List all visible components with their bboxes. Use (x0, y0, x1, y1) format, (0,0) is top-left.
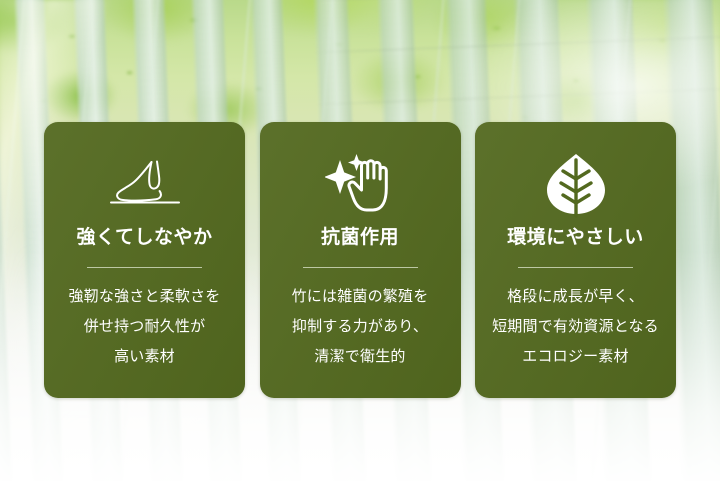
feature-card-antibacterial[interactable]: 抗菌作用 竹には雑菌の繁殖を 抑制する力があり、 清潔で衛生的 (260, 122, 461, 398)
leaf-icon (545, 148, 607, 222)
feature-card-eco[interactable]: 環境にやさしい 格段に成長が早く、 短期間で有効資源となる エコロジー素材 (475, 122, 676, 398)
feature-card-strength[interactable]: 強くてしなやか 強靭な強さと柔軟さを 併せ持つ耐久性が 高い素材 (44, 122, 245, 398)
feature-card-title: 強くてしなやか (77, 228, 213, 247)
feature-card-divider (518, 267, 633, 268)
feature-card-list: 強くてしなやか 強靭な強さと柔軟さを 併せ持つ耐久性が 高い素材 抗菌作用 竹に… (44, 122, 676, 398)
feature-card-title: 抗菌作用 (321, 228, 399, 247)
feature-card-divider (303, 267, 418, 268)
feature-card-body: 竹には雑菌の繁殖を 抑制する力があり、 清潔で衛生的 (292, 282, 429, 372)
foot-icon (109, 148, 181, 222)
feature-card-divider (87, 267, 202, 268)
feature-card-body: 格段に成長が早く、 短期間で有効資源となる エコロジー素材 (492, 282, 659, 372)
feature-card-title: 環境にやさしい (507, 228, 644, 247)
hand-sparkle-icon (325, 148, 395, 222)
bamboo-feature-banner: 強くてしなやか 強靭な強さと柔軟さを 併せ持つ耐久性が 高い素材 抗菌作用 竹に… (0, 0, 720, 481)
feature-card-body: 強靭な強さと柔軟さを 併せ持つ耐久性が 高い素材 (68, 282, 220, 372)
